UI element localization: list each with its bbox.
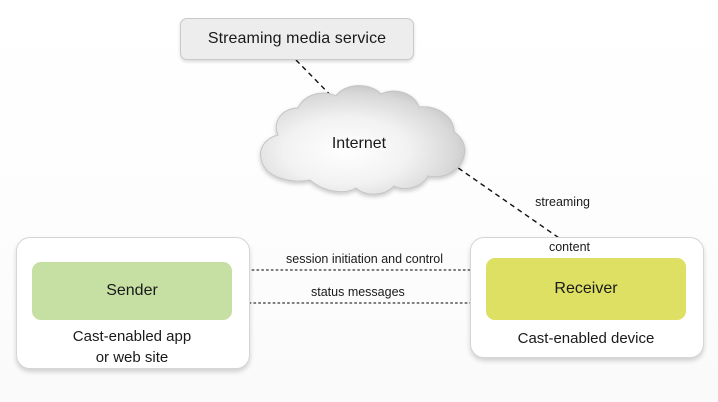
sender-chip[interactable]: Sender xyxy=(32,262,232,320)
receiver-caption: Cast-enabled device xyxy=(470,328,702,349)
streaming-media-service-label: Streaming media service xyxy=(208,30,386,48)
edge-label-session-initiation: session initiation and control xyxy=(286,252,443,267)
sender-caption: Cast-enabled app or web site xyxy=(16,326,248,368)
sender-caption-line1: Cast-enabled app xyxy=(16,326,248,347)
sender-label: Sender xyxy=(106,282,158,300)
streaming-media-service-box[interactable]: Streaming media service xyxy=(180,18,414,60)
edge-label-streaming-content: streaming content xyxy=(494,165,590,285)
diagram-canvas: Internet Streaming media service Sender … xyxy=(0,0,718,402)
edge-label-status-messages: status messages xyxy=(311,285,405,300)
cloud-label: Internet xyxy=(248,135,470,153)
edge-label-streaming-line1: streaming xyxy=(494,195,590,210)
receiver-caption-line1: Cast-enabled device xyxy=(470,328,702,349)
sender-caption-line2: or web site xyxy=(16,347,248,368)
edge-label-streaming-line2: content xyxy=(494,240,590,255)
